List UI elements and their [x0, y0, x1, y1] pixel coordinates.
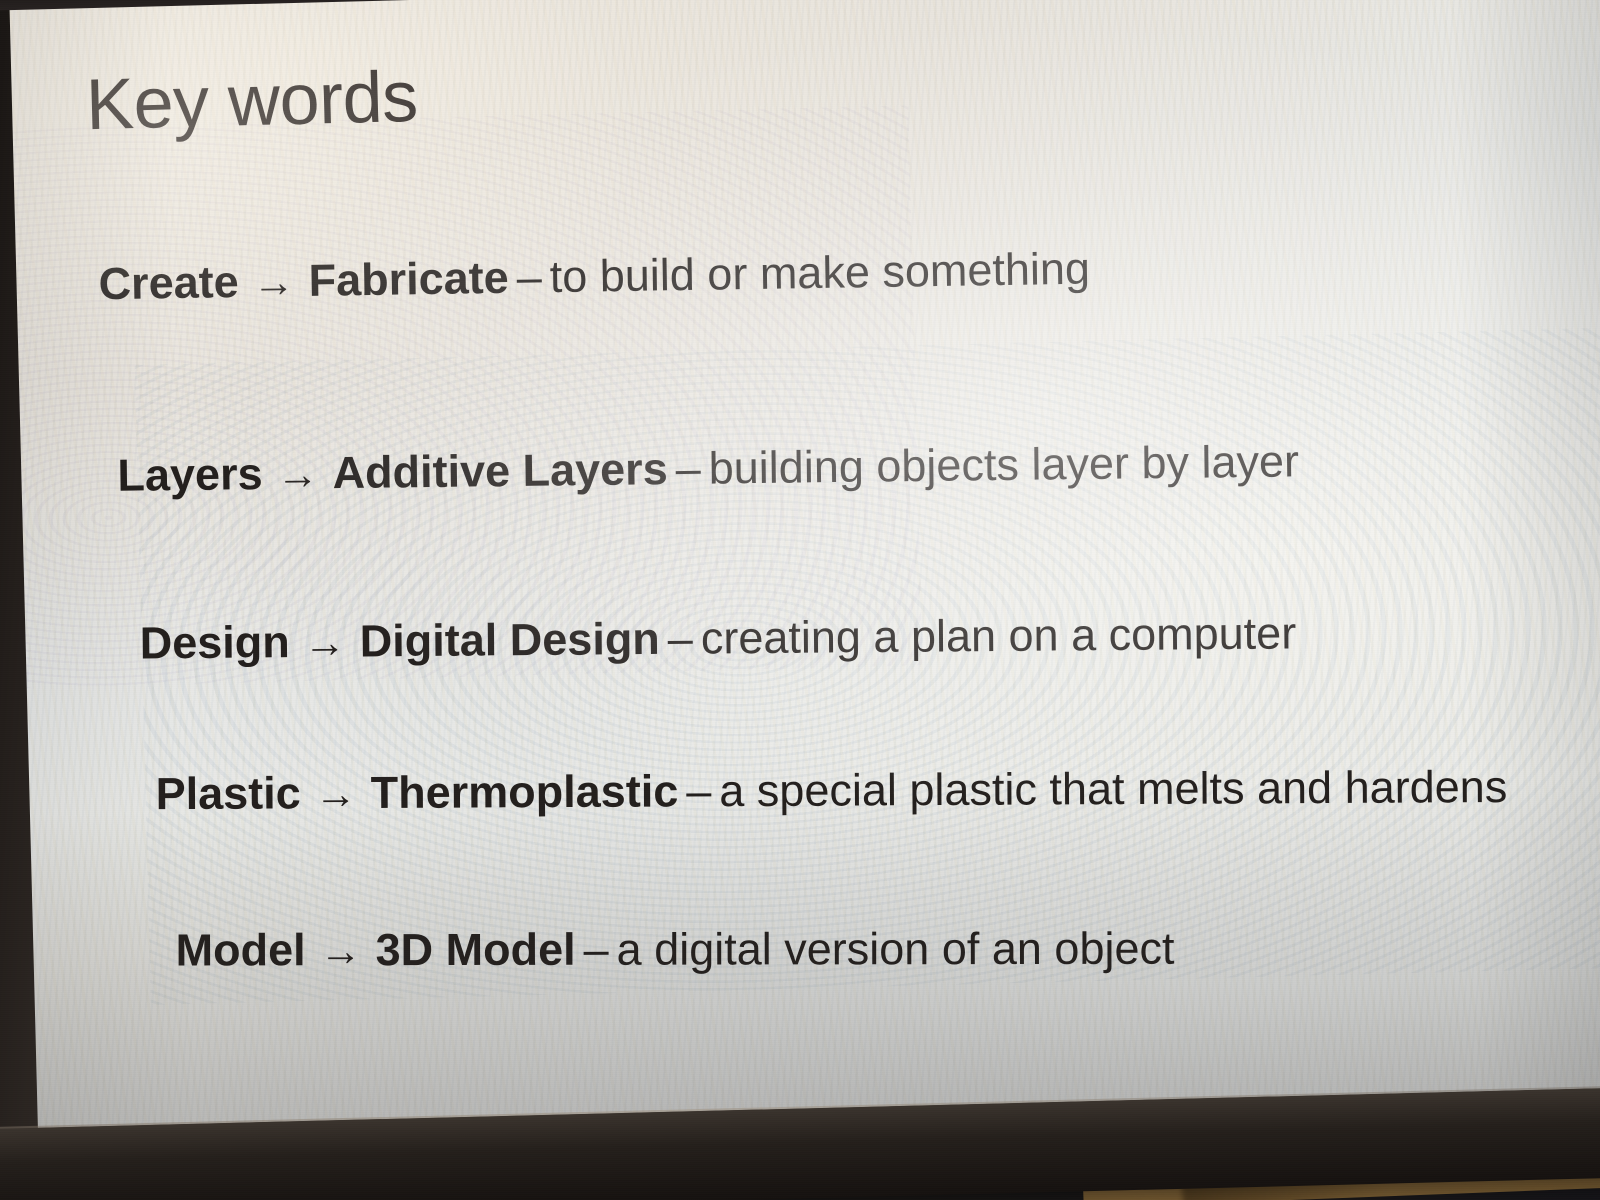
keyword-definition: a digital version of an object: [617, 923, 1175, 975]
keyword-row: Plastic→Thermoplastic–a special plastic …: [155, 764, 1507, 816]
keyword-technical-term: Fabricate: [308, 252, 509, 306]
keyword-simple-term: Design: [140, 616, 290, 668]
keyword-dash: –: [667, 443, 709, 494]
keyword-row: Layers→Additive Layers–building objects …: [117, 438, 1299, 497]
keyword-dash: –: [660, 613, 701, 664]
slide-title: Key words: [85, 56, 419, 146]
keyword-technical-term: Thermoplastic: [371, 765, 679, 818]
arrow-right-icon: →: [262, 450, 333, 498]
keyword-simple-term: Create: [98, 256, 239, 309]
computer-monitor: Key words Create→Fabricate–to build or m…: [0, 0, 1600, 1200]
keyword-definition: to build or make something: [549, 243, 1090, 302]
keyword-simple-term: Model: [176, 924, 306, 975]
slide-content: Key words Create→Fabricate–to build or m…: [6, 0, 1600, 1128]
keyword-dash: –: [678, 765, 719, 816]
monitor-screen: Key words Create→Fabricate–to build or m…: [6, 0, 1600, 1128]
keyword-definition: creating a plan on a computer: [701, 607, 1297, 663]
keyword-row: Create→Fabricate–to build or make someth…: [98, 246, 1090, 307]
keyword-dash: –: [508, 251, 550, 303]
keyword-technical-term: 3D Model: [376, 924, 576, 975]
arrow-right-icon: →: [301, 770, 371, 817]
keyword-technical-term: Additive Layers: [332, 443, 668, 498]
keyword-definition: a special plastic that melts and hardens: [719, 761, 1507, 816]
keyword-simple-term: Plastic: [155, 767, 300, 819]
arrow-right-icon: →: [290, 619, 360, 667]
keyword-simple-term: Layers: [117, 448, 263, 501]
keyword-definition: building objects layer by layer: [708, 435, 1299, 493]
keyword-technical-term: Digital Design: [360, 613, 660, 667]
arrow-right-icon: →: [306, 927, 376, 974]
arrow-right-icon: →: [238, 258, 309, 306]
keyword-row: Design→Digital Design–creating a plan on…: [140, 610, 1297, 665]
keyword-dash: –: [576, 924, 617, 975]
keyword-row: Model→3D Model–a digital version of an o…: [176, 926, 1175, 973]
photo-scene: Key words Create→Fabricate–to build or m…: [0, 0, 1600, 1200]
keyword-list: Create→Fabricate–to build or make someth…: [12, 217, 1600, 258]
